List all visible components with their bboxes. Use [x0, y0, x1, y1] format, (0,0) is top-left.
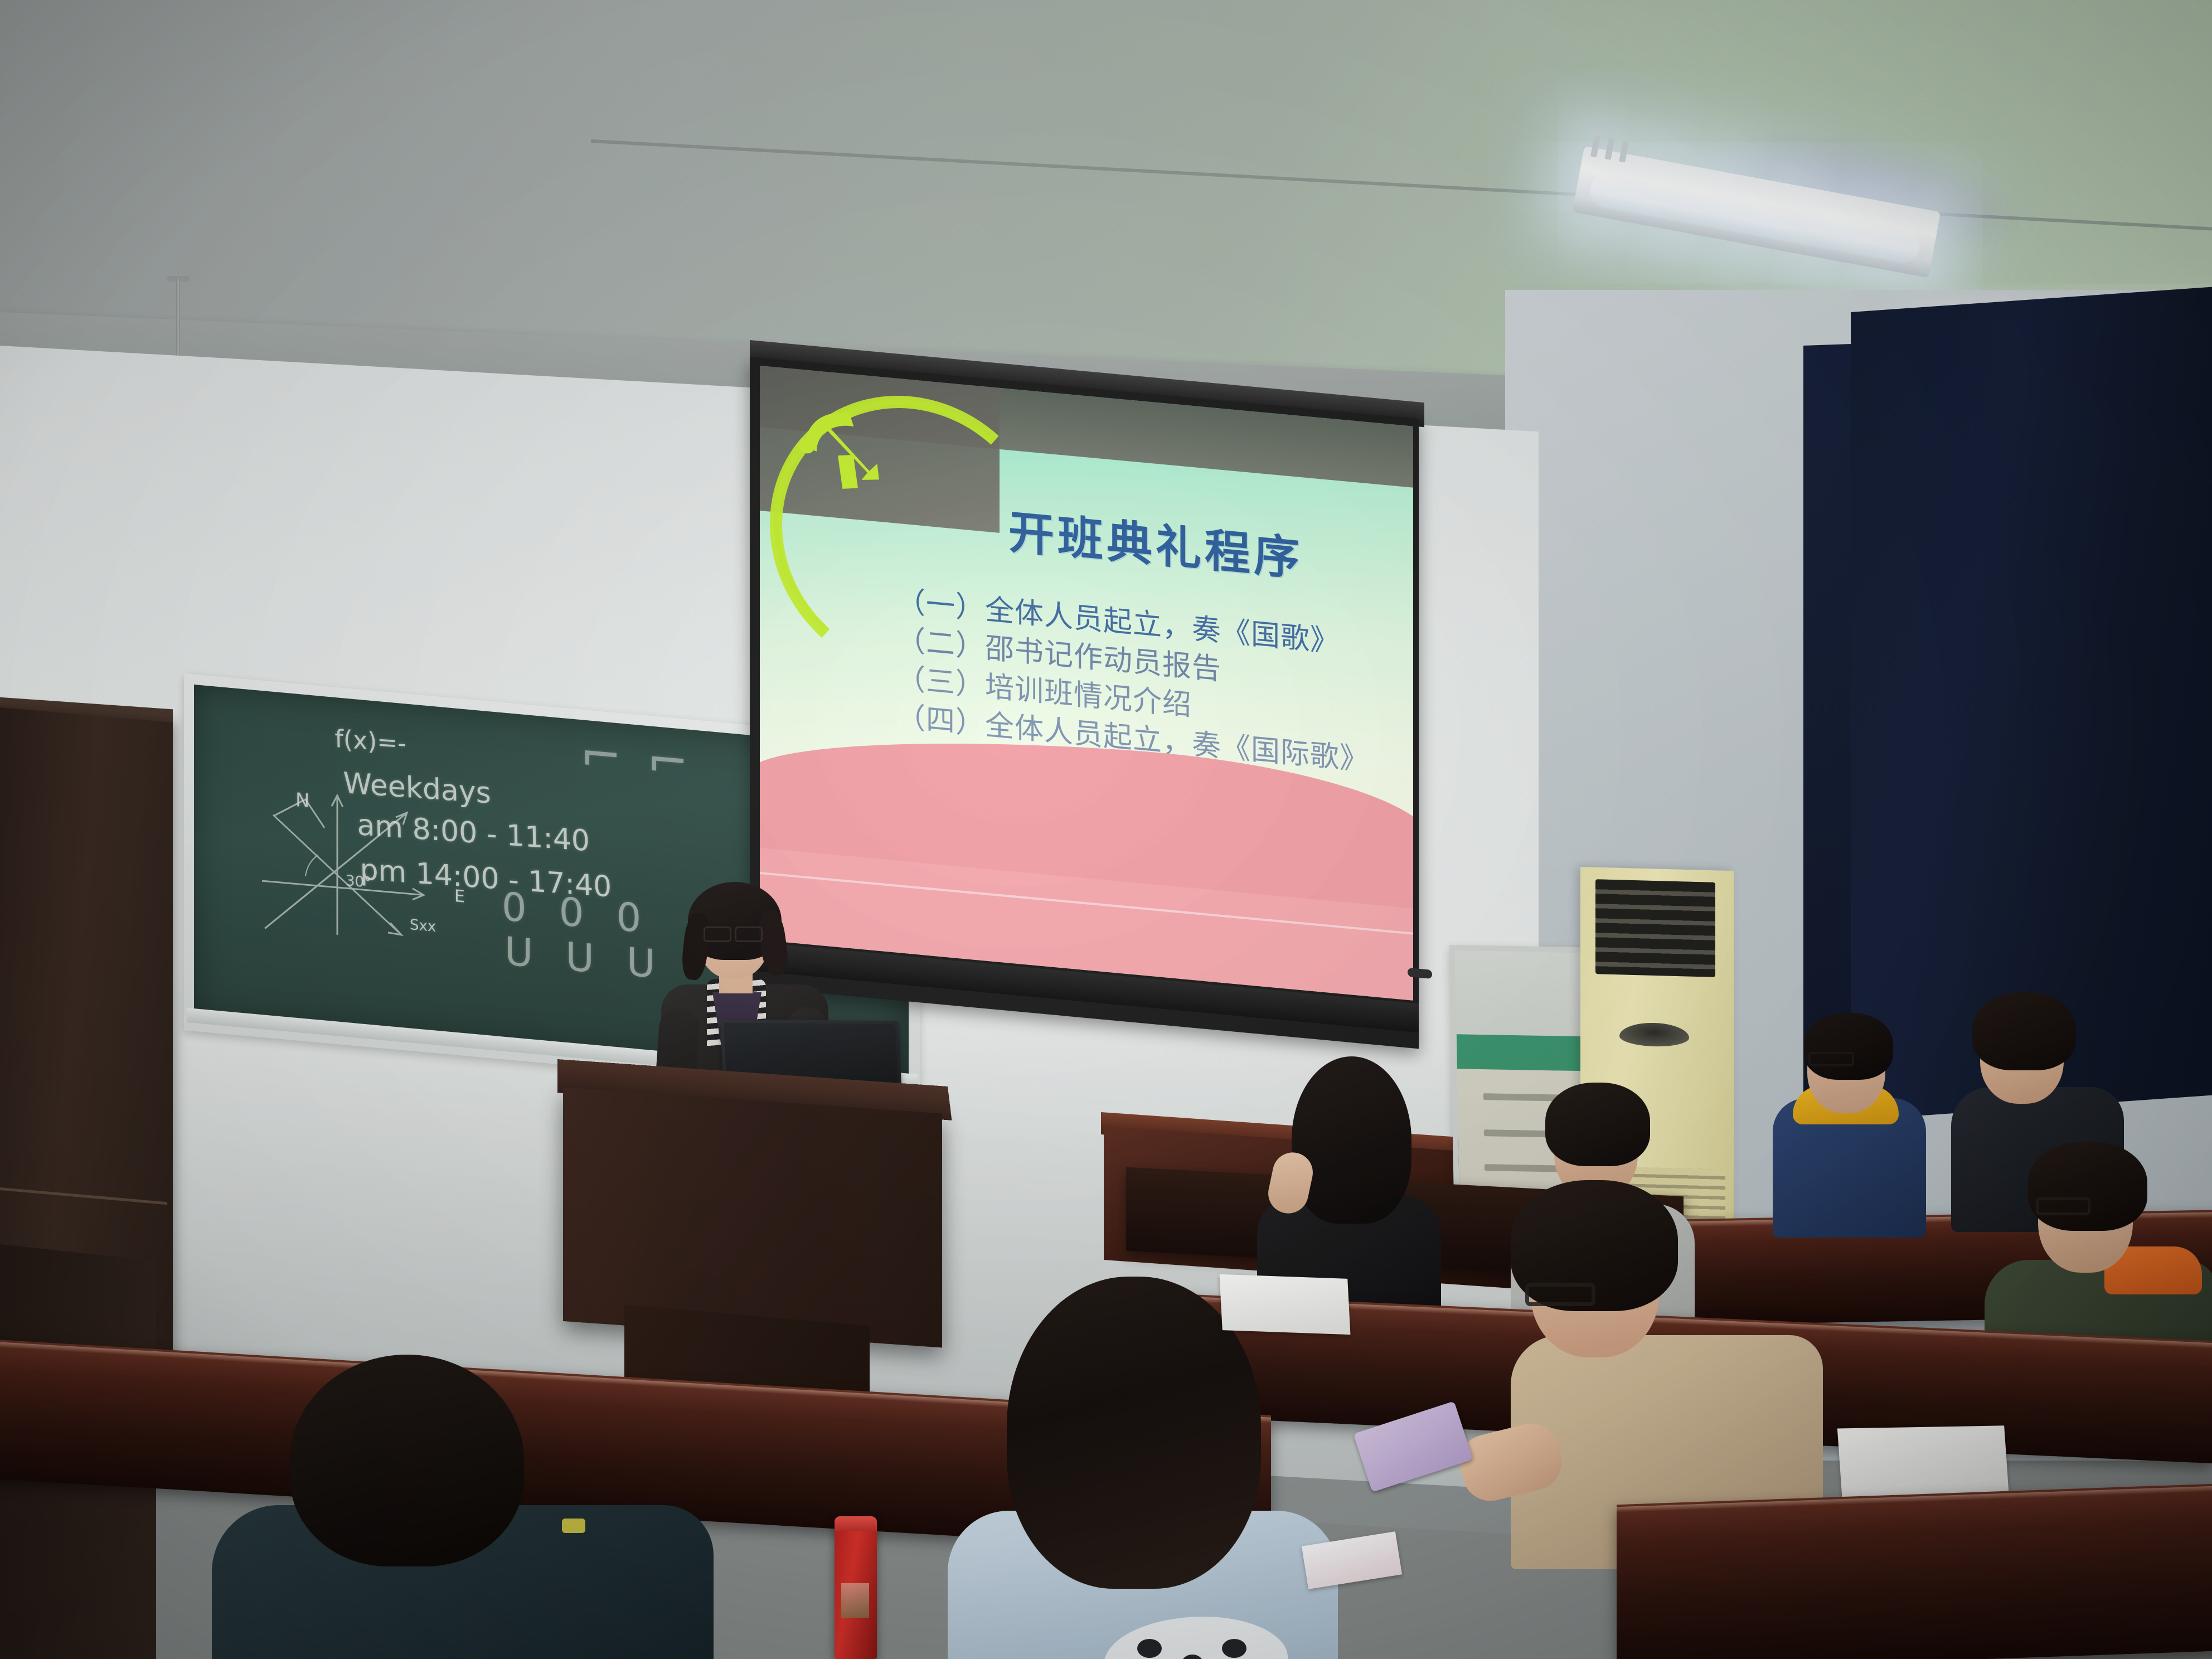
glasses-icon [2036, 1197, 2090, 1215]
student-front-left [212, 1338, 714, 1659]
student-hair [1972, 992, 2076, 1070]
classroom-photo: f(x)=- Weekdays am 8:00 - 11:40 pm 14:00… [0, 0, 2212, 1659]
bench-row-front-right [1617, 1483, 2212, 1659]
blackboard-label-sxx: Sxx [410, 917, 436, 936]
zipper-pull [562, 1519, 585, 1533]
speaker-glasses-icon [704, 926, 766, 939]
podium [563, 1087, 942, 1348]
air-conditioner-top-grille [1595, 879, 1715, 977]
thermos-cap [835, 1516, 877, 1531]
blackboard-bracket-sketch: ⌐ ⌐ [580, 725, 693, 793]
red-thermos-bottle[interactable] [835, 1516, 877, 1659]
thermos-label [841, 1583, 869, 1618]
cpc-hammer-sickle-emblem [790, 395, 894, 502]
projected-slide: 开班典礼程序 （一）全体人员起立，奏《国歌》 （二）邵书记作动员报告 （三）培训… [760, 366, 1413, 1001]
student-hair [290, 1355, 524, 1566]
student-hair [2028, 1142, 2147, 1231]
student-hair [1804, 1013, 1893, 1080]
speaker-hair-left [680, 912, 711, 981]
student-beige-coat [1427, 1151, 1817, 1541]
notebook-paper [1837, 1425, 2009, 1501]
blackboard-label-east: E [454, 886, 465, 907]
blackboard-line-1: f(x)=- [334, 725, 406, 758]
glasses-icon [1808, 1052, 1854, 1066]
notebook-paper [1220, 1274, 1351, 1335]
glasses-icon [1525, 1283, 1595, 1306]
blackboard-label-angle: 30° [346, 872, 371, 891]
speaker-hair-right [756, 908, 790, 977]
blackboard-label-north: N [295, 789, 309, 812]
student-front-center [937, 1277, 1338, 1659]
student-hair-long [1292, 1056, 1411, 1224]
